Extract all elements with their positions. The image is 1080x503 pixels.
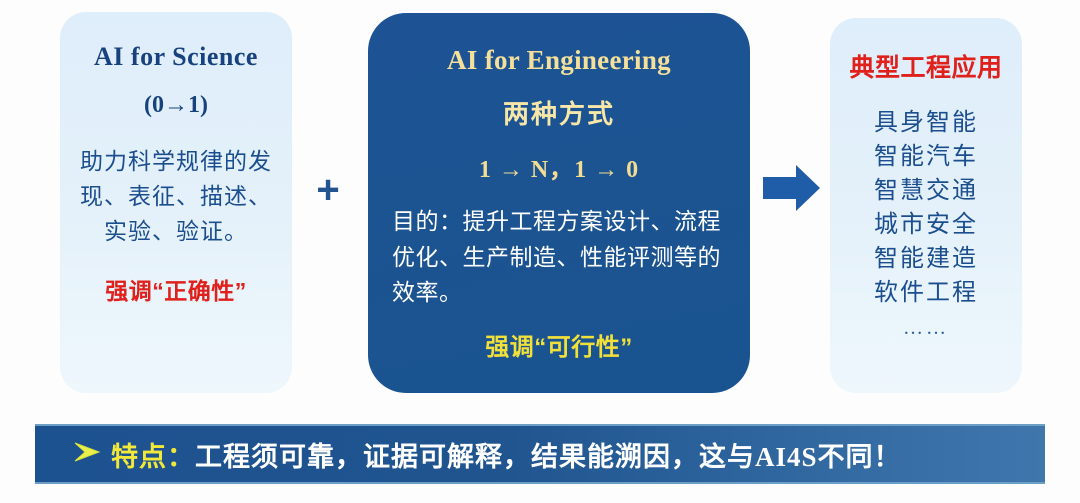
center-card-subtitle: 两种方式 bbox=[384, 94, 734, 131]
list-item: 软件工程 bbox=[838, 276, 1014, 310]
key-point-banner: 特点： 工程须可靠，证据可解释，结果能溯因，这与AI4S不同！ bbox=[35, 424, 1045, 484]
left-card-body: 助力科学规律的发现、表征、描述、实验、验证。 bbox=[72, 145, 280, 250]
ai-for-science-card: AI for Science (0→1) 助力科学规律的发现、表征、描述、实验、… bbox=[60, 12, 292, 393]
typical-applications-card: 典型工程应用 具身智能 智能汽车 智慧交通 城市安全 智能建造 软件工程 …… bbox=[830, 18, 1022, 393]
center-card-formula: 1 → N，1 → 0 bbox=[384, 149, 734, 184]
list-item: 智能汽车 bbox=[838, 140, 1014, 174]
left-card-title: AI for Science bbox=[72, 42, 280, 72]
banner-key-label: 特点： bbox=[111, 435, 195, 474]
plus-icon: + bbox=[306, 168, 350, 212]
right-arrow-icon bbox=[763, 163, 821, 213]
center-card-body: 目的：提升工程方案设计、流程优化、生产制造、性能评测等的效率。 bbox=[384, 204, 734, 311]
center-card-title: AI for Engineering bbox=[384, 45, 734, 76]
left-card-emphasis: 强调“正确性” bbox=[72, 272, 280, 306]
list-ellipsis: …… bbox=[838, 314, 1014, 342]
list-item: 城市安全 bbox=[838, 208, 1014, 242]
arrow-bullet-icon bbox=[73, 440, 101, 469]
list-item: 智能建造 bbox=[838, 242, 1014, 276]
ai-for-engineering-card: AI for Engineering 两种方式 1 → N，1 → 0 目的：提… bbox=[368, 13, 750, 393]
list-item: 具身智能 bbox=[838, 106, 1014, 140]
banner-text: 工程须可靠，证据可解释，结果能溯因，这与AI4S不同！ bbox=[195, 435, 902, 474]
right-card-title: 典型工程应用 bbox=[838, 48, 1014, 84]
center-card-emphasis: 强调“可行性” bbox=[384, 327, 734, 362]
list-item: 智慧交通 bbox=[838, 174, 1014, 208]
left-card-subtitle: (0→1) bbox=[72, 92, 280, 119]
application-list: 具身智能 智能汽车 智慧交通 城市安全 智能建造 软件工程 …… bbox=[838, 106, 1014, 343]
